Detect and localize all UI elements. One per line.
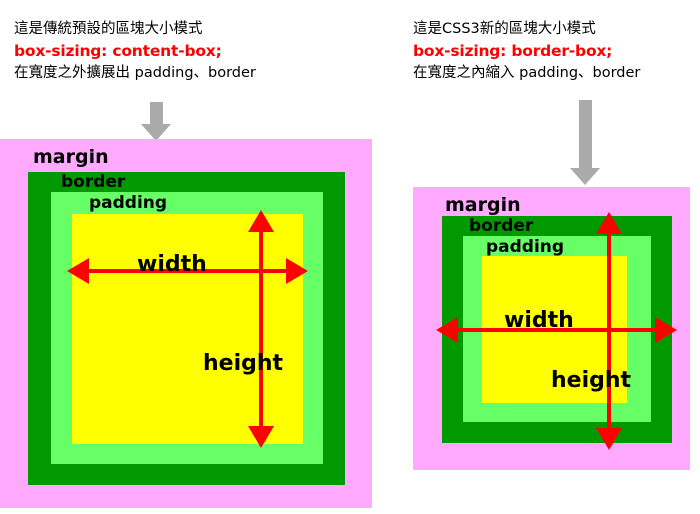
height-arrow-content-box	[248, 210, 274, 448]
caption-line-3: 在寬度之外擴展出 padding、border	[14, 62, 394, 84]
padding-label: padding	[89, 193, 167, 213]
panel-content-box: 這是傳統預設的區塊大小模式 box-sizing: content-box; 在…	[0, 0, 400, 514]
caption-content-box: 這是傳統預設的區塊大小模式 box-sizing: content-box; 在…	[14, 18, 394, 84]
width-label: width	[137, 252, 207, 277]
panel-border-box: 這是CSS3新的區塊大小模式 box-sizing: border-box; 在…	[400, 0, 700, 514]
height-label: height	[203, 351, 283, 376]
caption-border-box: 這是CSS3新的區塊大小模式 box-sizing: border-box; 在…	[413, 18, 700, 84]
margin-label: margin	[33, 146, 109, 168]
caption-line-1: 這是傳統預設的區塊大小模式	[14, 18, 394, 40]
height-label: height	[551, 368, 631, 393]
caption-code-line: box-sizing: content-box;	[14, 40, 394, 62]
caption-code-line: box-sizing: border-box;	[413, 40, 700, 62]
padding-label: padding	[486, 237, 564, 257]
border-label: border	[61, 172, 125, 192]
border-label: border	[469, 216, 533, 236]
caption-line-3: 在寬度之內縮入 padding、border	[413, 62, 700, 84]
margin-label: margin	[445, 194, 521, 216]
caption-line-1: 這是CSS3新的區塊大小模式	[413, 18, 700, 40]
height-arrow-border-box	[596, 212, 622, 450]
width-label: width	[504, 308, 574, 333]
